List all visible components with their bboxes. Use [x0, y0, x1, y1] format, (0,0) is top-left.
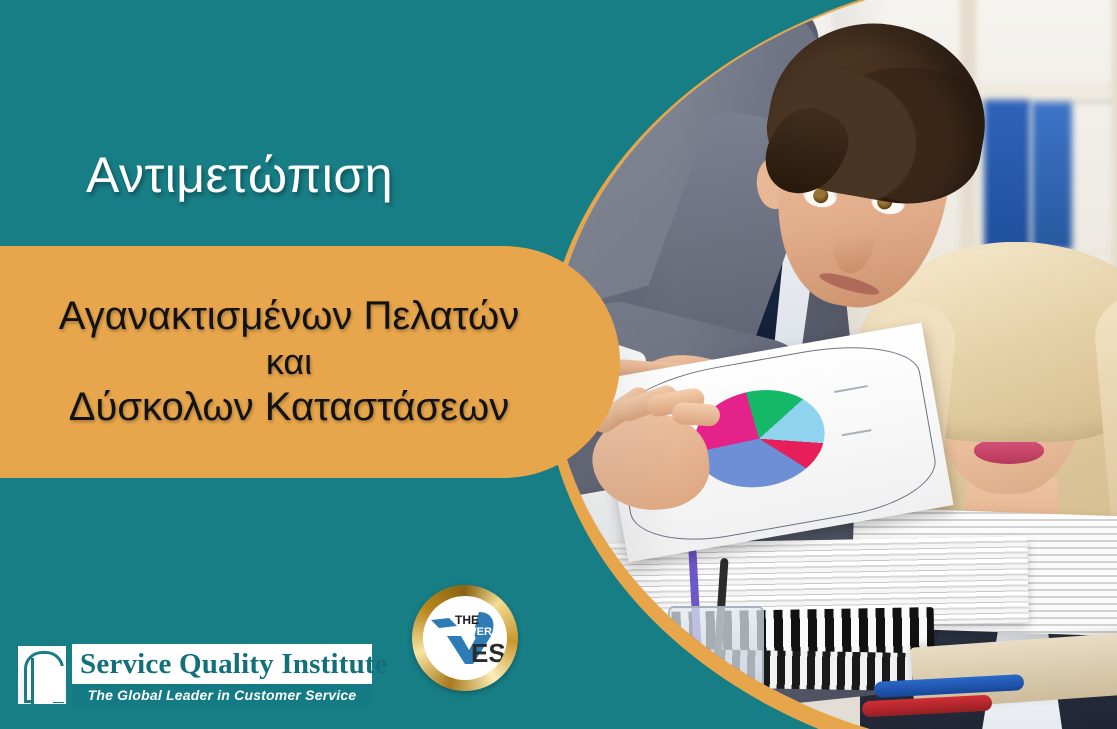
subtitle-line-3: Δύσκολων Καταστάσεων — [69, 385, 510, 430]
suit-pocket — [581, 86, 637, 115]
service-quality-institute-logo: Service Quality Institute The Global Lea… — [16, 644, 372, 706]
logo-name-box: Service Quality Institute — [72, 644, 372, 684]
logo-tagline: The Global Leader in Customer Service — [88, 687, 357, 703]
doorway-icon — [16, 644, 68, 706]
logo-tagline-box: The Global Leader in Customer Service — [72, 684, 372, 706]
badge-line-1: THE — [455, 613, 479, 627]
slide-canvas: Αντιμετώπιση Αγανακτισμένων Πελατών και … — [0, 0, 1117, 729]
badge-face: THE ANSWER IS ES — [423, 596, 507, 680]
hero-photo — [552, 0, 1117, 729]
orange-title-band: Αγανακτισμένων Πελατών και Δύσκολων Κατα… — [0, 246, 620, 478]
hair — [757, 7, 1000, 217]
badge-artwork-icon: THE ANSWER IS ES — [427, 606, 505, 670]
mans-head — [718, 3, 1006, 340]
blue-binder — [1032, 102, 1072, 250]
subtitle-line-2: και — [266, 341, 312, 383]
finger — [671, 402, 720, 427]
door-panel — [31, 658, 53, 704]
photo-scene — [552, 0, 1117, 729]
badge-line-3: ES — [471, 638, 505, 668]
logo-name: Service Quality Institute — [72, 648, 388, 681]
subtitle-line-1: Αγανακτισμένων Πελατών — [59, 294, 520, 339]
badge-line-2: ANSWER IS — [443, 626, 505, 638]
the-answer-is-yes-badge: THE ANSWER IS ES THE ANSWER IS YES — [412, 585, 518, 691]
subtitle-block: Αγανακτισμένων Πελατών και Δύσκολων Κατα… — [0, 246, 578, 478]
page-title: Αντιμετώπιση — [86, 146, 393, 204]
